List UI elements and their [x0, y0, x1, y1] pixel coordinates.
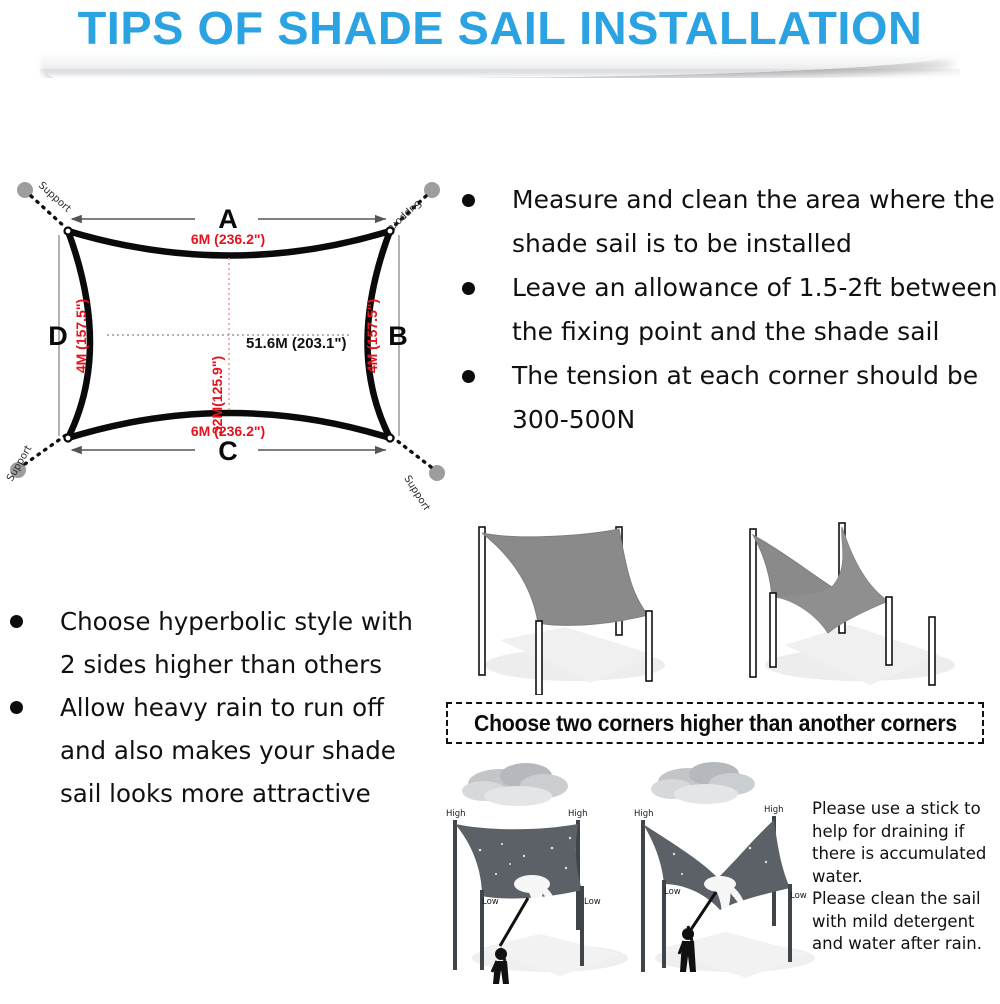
tip-line: and also makes your shade	[60, 729, 396, 772]
dim-left-edge: 4M (157.5")	[73, 299, 89, 373]
list-item: Measure and clean the area where the sha…	[462, 178, 1000, 266]
bullet-dot-icon	[462, 370, 475, 383]
tip-line: The tension at each corner should be	[512, 354, 978, 398]
pole-label-low: Low	[790, 891, 807, 901]
side-label-A: A	[218, 204, 238, 234]
tip-line: shade sail is to be installed	[512, 222, 995, 266]
list-item: Choose hyperbolic style with 2 sides hig…	[10, 600, 440, 686]
dim-vertical-center: 32M(125.9")	[209, 356, 225, 434]
pole-label-low: Low	[482, 897, 499, 907]
note-line: help for draining if	[812, 821, 1000, 844]
sail-style-comparison	[440, 505, 1000, 695]
list-item: Leave an allowance of 1.5-2ft between th…	[462, 266, 1000, 354]
banner-curl-shadow	[40, 52, 960, 78]
pole-label-low: Low	[584, 897, 601, 907]
pole-label-high: High	[446, 809, 466, 819]
bullet-dot-icon	[462, 282, 475, 295]
hyperbolic-style-sail	[750, 523, 955, 685]
tip-line: Leave an allowance of 1.5-2ft between	[512, 266, 998, 310]
tip-line: 2 sides higher than others	[60, 643, 413, 686]
dim-horizontal-center: 51.6M (203.1")	[246, 335, 347, 352]
note-line: Please use a stick to	[812, 798, 1000, 821]
tip-line: Allow heavy rain to run off	[60, 686, 396, 729]
scene-hyperbolic-sail: High High Low Low	[634, 762, 815, 978]
tips-list-style: Choose hyperbolic style with 2 sides hig…	[10, 600, 440, 815]
tip-line: the fixing point and the shade sail	[512, 310, 998, 354]
cloud-icon	[462, 763, 568, 806]
list-item: Allow heavy rain to run off and also mak…	[10, 686, 440, 815]
note-line: there is accumulated	[812, 843, 1000, 866]
shade-sail-measurement-diagram: Support Support Support Support	[0, 140, 460, 510]
dim-bottom-edge: 6M (236.2")	[191, 423, 265, 439]
rain-drain-scenes: High High Low Low	[440, 758, 820, 1000]
scene-flat-sail: High High Low Low	[446, 763, 628, 984]
bullet-dot-icon	[10, 701, 23, 714]
dim-right-edge: 4M (157.5")	[364, 299, 380, 373]
note-line: Please clean the sail	[812, 888, 1000, 911]
list-item: The tension at each corner should be 300…	[462, 354, 1000, 442]
side-label-D: D	[48, 321, 68, 351]
callout-choose-corners: Choose two corners higher than another c…	[446, 702, 984, 744]
pole-label-high: High	[568, 809, 588, 819]
infographic-page: TIPS OF SHADE SAIL INSTALLATION	[0, 0, 1000, 1000]
dim-top-edge: 6M (236.2")	[191, 231, 265, 247]
support-label-bottom-right: Support	[401, 474, 431, 510]
flat-style-sail	[479, 527, 665, 695]
tip-line: 300-500N	[512, 398, 978, 442]
maintenance-note: Please use a stick to help for draining …	[812, 798, 1000, 956]
tip-line: Choose hyperbolic style with	[60, 600, 413, 643]
side-label-C: C	[218, 436, 238, 466]
cloud-icon	[651, 762, 755, 804]
pole-label-high: High	[764, 805, 784, 815]
note-line: water.	[812, 866, 1000, 889]
note-line: with mild detergent	[812, 911, 1000, 934]
support-label-top-left: Support	[36, 180, 73, 215]
pole-label-high: High	[634, 809, 654, 819]
pole-label-low: Low	[664, 887, 681, 897]
bullet-dot-icon	[462, 194, 475, 207]
side-label-B: B	[388, 321, 408, 351]
tip-line: Measure and clean the area where the	[512, 178, 995, 222]
title-banner: TIPS OF SHADE SAIL INSTALLATION	[0, 0, 1000, 78]
note-line: and water after rain.	[812, 933, 1000, 956]
tips-list-installation: Measure and clean the area where the sha…	[462, 178, 1000, 442]
page-title: TIPS OF SHADE SAIL INSTALLATION	[0, 2, 1000, 54]
tip-line: sail looks more attractive	[60, 772, 396, 815]
callout-text: Choose two corners higher than another c…	[474, 710, 957, 737]
bullet-dot-icon	[10, 615, 23, 628]
